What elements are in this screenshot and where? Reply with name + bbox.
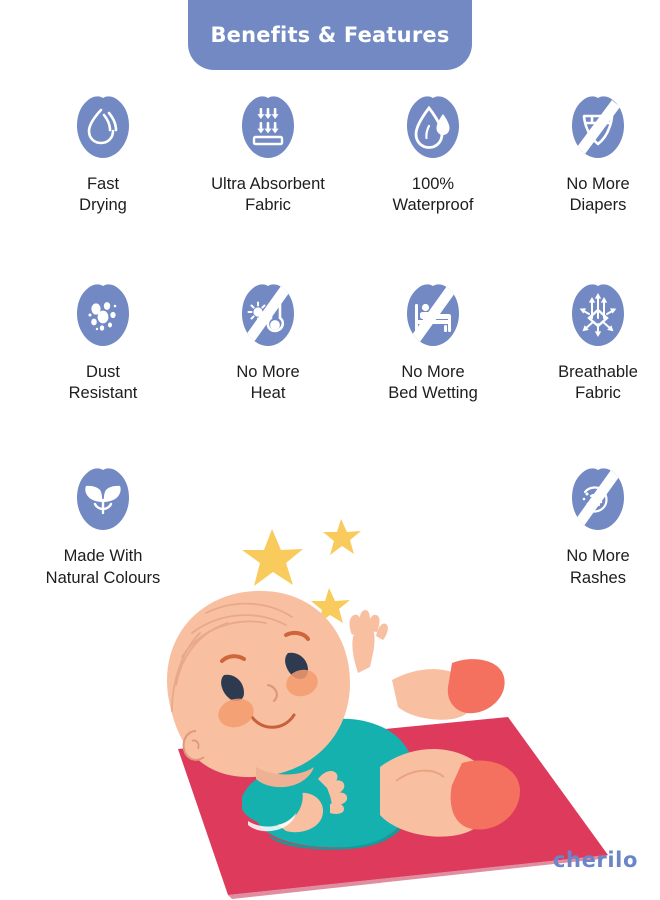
diaper-slash-icon <box>570 96 626 160</box>
feature-label: Dust Resistant <box>69 362 138 404</box>
feature-label: Fast Drying <box>79 174 127 216</box>
breathable-arrows-icon <box>570 284 626 348</box>
brand-logo: cherilo <box>553 848 638 872</box>
feature-label: Breathable Fabric <box>558 362 638 404</box>
droplet-flame-icon <box>75 96 131 160</box>
feature-label: 100% Waterproof <box>392 174 473 216</box>
star-icon <box>323 519 361 555</box>
star-icon <box>242 529 303 586</box>
header-banner: Benefits & Features <box>188 0 472 70</box>
feature-row-1: Fast Drying <box>0 96 660 216</box>
feature-label: Ultra Absorbent Fabric <box>211 174 325 216</box>
feature-item-ultra-absorbent-fabric[interactable]: Ultra Absorbent Fabric <box>206 96 330 216</box>
feature-item-no-more-heat[interactable]: No More Heat <box>206 284 330 404</box>
page-title: Benefits & Features <box>210 23 449 47</box>
absorbent-arrows-icon <box>240 96 296 160</box>
baby-bootie-back <box>448 659 505 713</box>
feature-item-no-more-bed-wetting[interactable]: No More Bed Wetting <box>371 284 495 404</box>
thermometer-sun-slash-icon <box>240 284 296 348</box>
feature-label: No More Heat <box>236 362 299 404</box>
feature-item-no-more-diapers[interactable]: No More Diapers <box>536 96 660 216</box>
feature-item-100-waterproof[interactable]: 100% Waterproof <box>371 96 495 216</box>
bed-slash-icon <box>405 284 461 348</box>
feature-item-dust-resistant[interactable]: Dust Resistant <box>41 284 165 404</box>
baby-lying-on-mat-illustration <box>0 505 660 900</box>
feature-label: No More Diapers <box>566 174 629 216</box>
feature-item-fast-drying[interactable]: Fast Drying <box>41 96 165 216</box>
feature-row-2: Dust Resistant <box>0 284 660 404</box>
dust-particles-icon <box>75 284 131 348</box>
feature-label: No More Bed Wetting <box>388 362 478 404</box>
water-drops-icon <box>405 96 461 160</box>
feature-item-breathable-fabric[interactable]: Breathable Fabric <box>536 284 660 404</box>
